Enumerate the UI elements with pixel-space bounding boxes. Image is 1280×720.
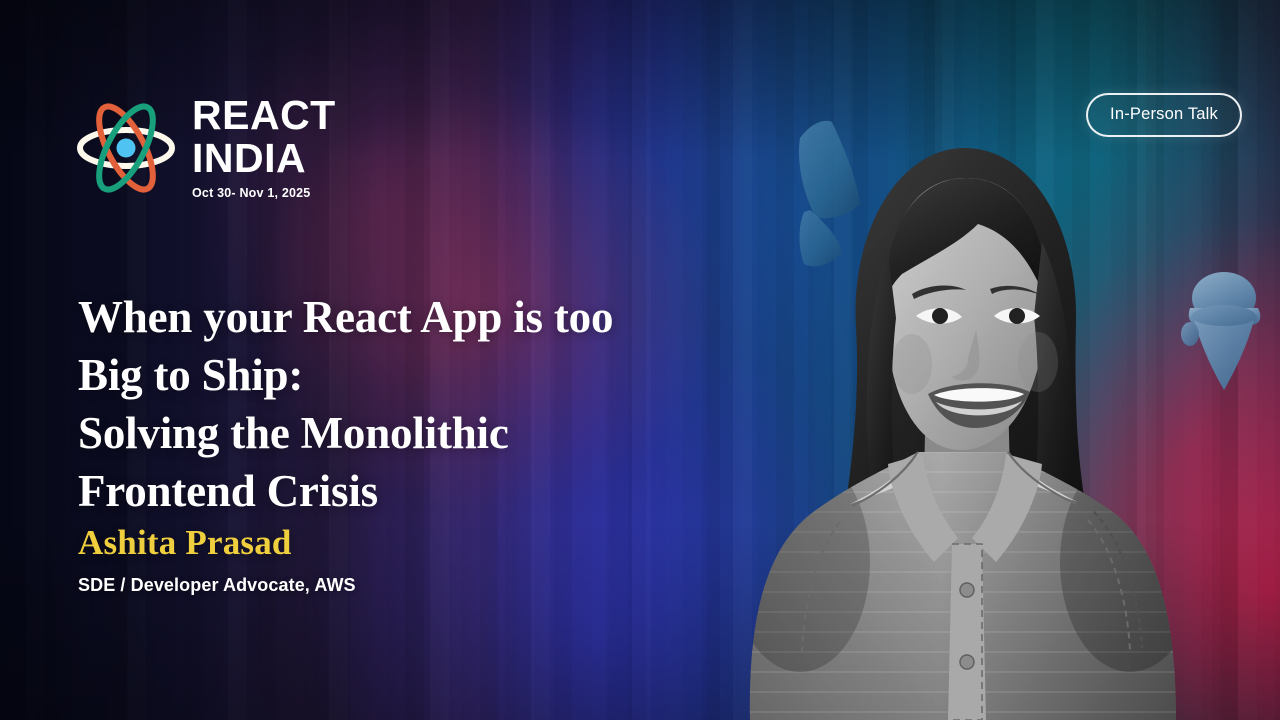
logo-text-india: INDIA: [192, 138, 336, 178]
event-dates: Oct 30- Nov 1, 2025: [192, 185, 336, 201]
speaker-name: Ashita Prasad: [78, 522, 292, 564]
react-atom-icon: [74, 95, 178, 201]
talk-announcement-card: REACT INDIA Oct 30- Nov 1, 2025 In-Perso…: [0, 0, 1280, 720]
in-person-talk-badge: In-Person Talk: [1086, 93, 1242, 137]
speaker-role: SDE / Developer Advocate, AWS: [78, 573, 356, 597]
logo-text-react: REACT: [192, 95, 336, 135]
speaker-portrait-photo: [690, 92, 1230, 720]
talk-title-line: When your React App is too: [78, 288, 718, 346]
talk-title-line: Solving the Monolithic: [78, 404, 718, 462]
talk-title-line: Frontend Crisis: [78, 462, 718, 520]
talk-title-line: Big to Ship:: [78, 346, 718, 404]
react-india-logo: REACT INDIA Oct 30- Nov 1, 2025: [74, 95, 336, 201]
talk-title: When your React App is too Big to Ship: …: [78, 288, 718, 520]
